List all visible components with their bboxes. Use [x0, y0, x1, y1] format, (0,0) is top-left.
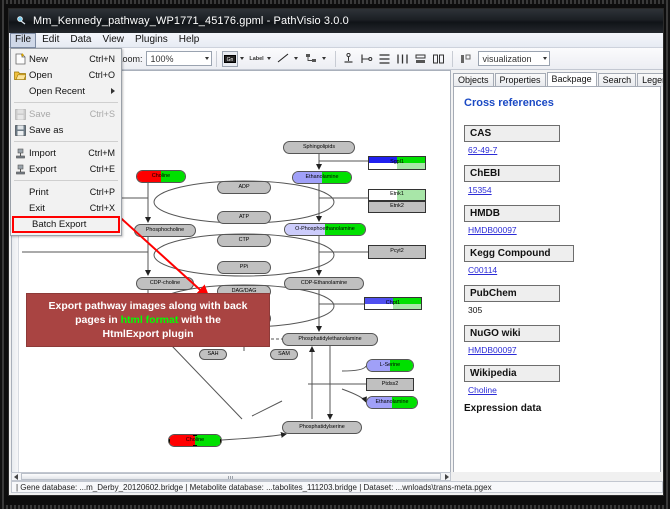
file-menu-import-label: Import [29, 148, 88, 159]
toolbar-separator-2 [335, 51, 336, 67]
line-tool-button[interactable] [276, 51, 292, 67]
node-label: CDP-Ethanolamine [301, 281, 347, 286]
visualization-combobox[interactable]: visualization [478, 51, 550, 66]
pathway-node-adp[interactable]: ADP [217, 181, 271, 194]
label-tool-text: Label [249, 56, 263, 62]
node-label: Ethanolamine [376, 400, 409, 405]
callout-line-2: pages in html format with the [33, 313, 263, 327]
file-menu-import[interactable]: Import Ctrl+M [11, 145, 121, 161]
xref-nugo-label: NuGO wiki [464, 325, 560, 342]
pathway-node-o-phosphoethanolamine[interactable]: O-Phosphoethanolamine [284, 223, 366, 236]
folder-open-icon [11, 68, 29, 82]
group-icon[interactable] [431, 51, 447, 67]
toolbar-separator-3 [452, 51, 453, 67]
pathway-node-sgpl1[interactable]: Sgpl1 [368, 156, 426, 170]
file-menu-dropdown[interactable]: New Ctrl+N Open Ctrl+O Open Recent [10, 48, 122, 236]
tab-backpage[interactable]: Backpage [547, 72, 597, 87]
stack-icon[interactable] [413, 51, 429, 67]
align-left-icon[interactable] [359, 51, 375, 67]
file-menu-separator-3 [14, 180, 118, 181]
pathway-node-atp[interactable]: ATP [217, 211, 271, 224]
file-menu-open-label: Open [29, 70, 89, 81]
pathway-node-ptdss2[interactable]: Ptdss2 [366, 378, 414, 391]
file-menu-save-as-label: Save as [29, 125, 115, 136]
print-spacer-icon [11, 185, 29, 199]
tab-search[interactable]: Search [598, 73, 637, 87]
batch-export-spacer-icon [14, 218, 32, 232]
menu-plugins[interactable]: Plugins [130, 33, 173, 48]
node-label: Sgpl1 [390, 160, 404, 165]
pathway-node-pcyt2[interactable]: Pcyt2 [368, 245, 426, 259]
side-panel: Objects Properties Backpage Search Legen… [451, 70, 661, 474]
line-tool-dropdown-icon[interactable] [294, 57, 298, 60]
node-label: Etnk1 [390, 192, 404, 197]
pathway-node-sam[interactable]: SAM [270, 349, 298, 360]
svg-text:Gn: Gn [226, 57, 233, 63]
xref-cas-value[interactable]: 62-49-7 [464, 145, 652, 155]
file-menu-save-accel: Ctrl+S [90, 109, 121, 119]
xref-pubchem: PubChem 305 [464, 283, 652, 315]
file-menu-open[interactable]: Open Ctrl+O [11, 67, 121, 83]
submenu-arrow-icon [111, 88, 115, 94]
pathway-node-ctp[interactable]: CTP [217, 234, 271, 247]
exit-spacer-icon [11, 201, 29, 215]
pathway-node-cdp-ethanolamine[interactable]: CDP-Ethanolamine [284, 277, 364, 290]
xref-chebi-label: ChEBI [464, 165, 560, 182]
gene-tool-dropdown-icon[interactable] [240, 57, 244, 60]
node-label: Phosphatidylserine [299, 425, 345, 430]
callout-line-3: HtmlExport plugin [33, 327, 263, 341]
status-bar: | Gene database: ...m_Derby_20120602.bri… [11, 481, 663, 493]
file-menu-new-accel: Ctrl+N [89, 54, 121, 64]
menu-bar: File Edit Data View Plugins Help [9, 33, 663, 48]
node-label: Ethanolamine [306, 175, 339, 180]
label-tool-button[interactable]: Label [249, 51, 265, 67]
xref-nugo-value[interactable]: HMDB00097 [464, 345, 652, 355]
gene-tool-button[interactable]: Gn [222, 51, 238, 67]
file-menu-import-accel: Ctrl+M [88, 148, 121, 158]
distribute-horizontal-icon[interactable] [395, 51, 411, 67]
node-label: PPi [240, 265, 248, 270]
xref-hmdb-label: HMDB [464, 205, 560, 222]
xref-kegg-label: Kegg Compound [464, 245, 574, 262]
node-label: SAH [207, 352, 218, 357]
pathway-node-sah[interactable]: SAH [199, 349, 227, 360]
pathway-node-etnk1[interactable]: Etnk1 [368, 189, 426, 201]
file-menu-new[interactable]: New Ctrl+N [11, 51, 121, 67]
xref-wikipedia-label: Wikipedia [464, 365, 560, 382]
node-label: Ptdss2 [382, 382, 398, 387]
file-menu-new-label: New [29, 54, 89, 65]
status-area: | Gene database: ...m_Derby_20120602.bri… [9, 472, 663, 495]
pathway-node-ppi[interactable]: PPi [217, 261, 271, 274]
node-label: Phosphocholine [146, 228, 184, 233]
export-icon [11, 162, 29, 176]
pathway-node-sphingolipids[interactable]: Sphingolipids [283, 141, 355, 154]
callout-highlight-text: html format [121, 314, 179, 326]
chevron-down-icon-2 [543, 57, 547, 60]
file-menu-print[interactable]: Print Ctrl+P [11, 184, 121, 200]
pathway-node-phosphatidylethanolamine[interactable]: Phosphatidylethanolamine [282, 333, 378, 346]
pathway-node-phosphatidylserine[interactable]: Phosphatidylserine [282, 421, 362, 434]
pathway-node-ethanolamine-right[interactable]: Ethanolamine [366, 396, 418, 409]
callout-line-2-pre: pages in [75, 314, 121, 326]
import-icon [11, 146, 29, 160]
node-label: Etnk2 [390, 204, 404, 209]
xref-pubchem-label: PubChem [464, 285, 560, 302]
window-title: Mm_Kennedy_pathway_WP1771_45176.gpml - P… [33, 15, 349, 27]
node-label: O-Phosphoethanolamine [295, 227, 355, 232]
visualization-settings-icon[interactable] [458, 51, 474, 67]
file-menu-open-recent-label: Open Recent [29, 86, 111, 97]
callout-line-2-post: with the [178, 314, 221, 326]
file-menu-separator-2 [14, 141, 118, 142]
node-label: Phosphatidylethanolamine [298, 337, 361, 342]
open-recent-spacer-icon [11, 84, 29, 98]
chevron-down-icon [205, 57, 209, 60]
xref-wikipedia: Wikipedia Choline [464, 363, 652, 395]
callout-line-1: Export pathway images along with back [33, 299, 263, 313]
node-label: SAM [278, 352, 290, 357]
file-menu-print-accel: Ctrl+P [90, 187, 121, 197]
align-top-icon[interactable] [341, 51, 357, 67]
status-bar-text: | Gene database: ...m_Derby_20120602.bri… [16, 483, 492, 492]
node-label: Choline [152, 174, 170, 179]
node-label: CDP-choline [150, 281, 180, 286]
node-label: CTP [239, 238, 250, 243]
node-label: L-Serine [380, 363, 400, 368]
file-menu-exit[interactable]: Exit Ctrl+X [11, 200, 121, 216]
scrollbar-thumb[interactable] [21, 473, 441, 480]
zoom-combobox[interactable]: 100% [146, 51, 212, 66]
file-menu-exit-label: Exit [29, 203, 90, 214]
xref-nugo: NuGO wiki HMDB00097 [464, 323, 652, 355]
tab-objects[interactable]: Objects [453, 73, 494, 87]
xref-cas: CAS 62-49-7 [464, 123, 652, 155]
scrollbar-grip [228, 476, 234, 479]
pathway-node-chpt1[interactable]: Chpt1 [364, 297, 422, 310]
interaction-tool-dropdown-icon[interactable] [322, 57, 326, 60]
file-menu-export-label: Export [29, 164, 90, 175]
pathway-node-l-serine[interactable]: L-Serine [366, 359, 414, 372]
node-label: ATP [239, 215, 249, 220]
scroll-left-icon[interactable] [12, 473, 20, 480]
expression-data-heading: Expression data [464, 403, 652, 414]
menu-view[interactable]: View [97, 33, 129, 48]
xref-pubchem-value: 305 [464, 305, 652, 315]
save-as-icon [11, 123, 29, 137]
interaction-tool-button[interactable] [304, 51, 320, 67]
tab-legend[interactable]: Legend [637, 73, 664, 87]
xref-hmdb-value[interactable]: HMDB00097 [464, 225, 652, 235]
menu-help[interactable]: Help [174, 33, 205, 48]
file-menu-open-accel: Ctrl+O [89, 70, 121, 80]
pathway-node-ethanolamine-top[interactable]: Ethanolamine [292, 171, 352, 184]
canvas-horizontal-scrollbar[interactable] [11, 472, 451, 481]
scroll-right-icon[interactable] [442, 473, 450, 480]
pathway-node-choline-top[interactable]: Choline [136, 170, 186, 183]
file-menu-export[interactable]: Export Ctrl+E [11, 161, 121, 177]
zoom-value: 100% [151, 54, 174, 64]
pathway-node-etnk2[interactable]: Etnk2 [368, 201, 426, 213]
node-label: Sphingolipids [303, 145, 335, 150]
pathway-node-phosphocholine[interactable]: Phosphocholine [134, 224, 196, 237]
pathway-node-choline-selected[interactable]: Choline [168, 434, 222, 447]
node-label: Chpt1 [386, 301, 400, 306]
file-menu-separator-1 [14, 102, 118, 103]
tab-properties[interactable]: Properties [495, 73, 546, 87]
pathway-node-cdp-choline[interactable]: CDP-choline [136, 277, 194, 290]
file-menu-exit-accel: Ctrl+X [90, 203, 121, 213]
menu-data[interactable]: Data [65, 33, 96, 48]
distribute-vertical-icon[interactable] [377, 51, 393, 67]
visualization-value: visualization [483, 54, 532, 64]
save-disk-icon [11, 107, 29, 121]
file-menu-print-label: Print [29, 187, 90, 198]
backpage-content: Cross references CAS 62-49-7 ChEBI 15354… [453, 86, 661, 474]
node-label: Pcyt2 [390, 249, 403, 254]
file-menu-export-accel: Ctrl+E [90, 164, 121, 174]
xref-hmdb: HMDB HMDB00097 [464, 203, 652, 235]
node-label: ADP [238, 185, 249, 190]
xref-chebi-value[interactable]: 15354 [464, 185, 652, 195]
toolbar-separator [216, 51, 217, 67]
menu-file[interactable]: File [10, 33, 36, 48]
label-tool-dropdown-icon[interactable] [267, 57, 271, 60]
pathvisio-application-window: Mm_Kennedy_pathway_WP1771_45176.gpml - P… [8, 8, 664, 496]
cross-references-heading: Cross references [464, 97, 652, 109]
node-label: Choline [186, 438, 204, 443]
file-menu-save-as[interactable]: Save as [11, 122, 121, 138]
file-menu-batch-export-label: Batch Export [32, 219, 112, 230]
pathvisio-icon [15, 15, 28, 28]
xref-cas-label: CAS [464, 125, 560, 142]
file-menu-batch-export[interactable]: Batch Export [12, 216, 120, 233]
xref-wikipedia-value[interactable]: Choline [464, 385, 652, 395]
file-menu-open-recent[interactable]: Open Recent [11, 83, 121, 99]
file-menu-save[interactable]: Save Ctrl+S [11, 106, 121, 122]
xref-kegg-value[interactable]: C00114 [464, 265, 652, 275]
annotation-callout: Export pathway images along with back pa… [26, 293, 270, 347]
new-document-icon [11, 52, 29, 66]
xref-chebi: ChEBI 15354 [464, 163, 652, 195]
menu-edit[interactable]: Edit [37, 33, 64, 48]
title-bar: Mm_Kennedy_pathway_WP1771_45176.gpml - P… [9, 9, 663, 33]
side-panel-tabs: Objects Properties Backpage Search Legen… [451, 72, 661, 87]
file-menu-save-label: Save [29, 109, 90, 120]
xref-kegg: Kegg Compound C00114 [464, 243, 652, 275]
